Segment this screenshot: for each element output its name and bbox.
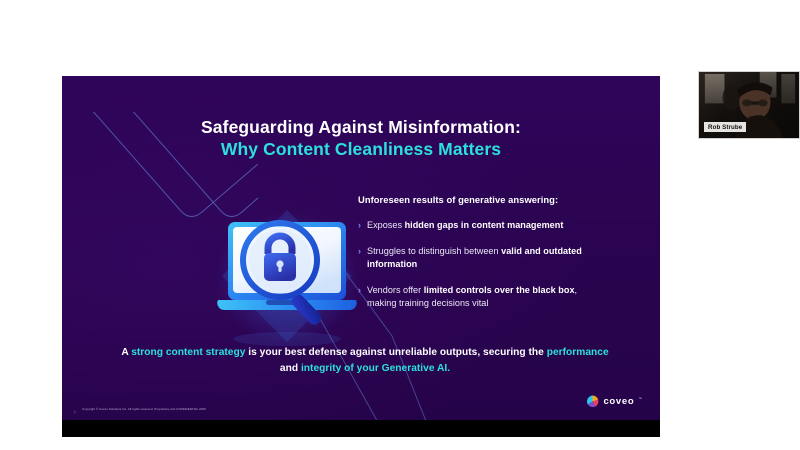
bullet-chevron-icon: › bbox=[358, 219, 367, 232]
bullet-item-text: Struggles to distinguish between valid a… bbox=[367, 245, 608, 271]
content-heading: Unforeseen results of generative answeri… bbox=[358, 194, 608, 205]
summary-highlight: strong content strategy bbox=[131, 347, 245, 358]
bullet-item: ›Struggles to distinguish between valid … bbox=[358, 245, 608, 271]
bullet-list: ›Exposes hidden gaps in content manageme… bbox=[358, 219, 608, 310]
webcam-participant-name: Rob Strube bbox=[704, 122, 746, 132]
summary-text: A bbox=[121, 347, 131, 358]
slide-canvas: Safeguarding Against Misinformation: Why… bbox=[62, 76, 660, 420]
bullet-item-text: Vendors offer limited controls over the … bbox=[367, 284, 608, 310]
bullet-item-text: Exposes hidden gaps in content managemen… bbox=[367, 219, 563, 232]
summary-highlight: integrity of your Generative AI. bbox=[301, 363, 450, 374]
slide-title-line-2: Why Content Cleanliness Matters bbox=[62, 138, 660, 160]
coveo-pinwheel-icon bbox=[586, 395, 599, 408]
slide-title-line-1: Safeguarding Against Misinformation: bbox=[62, 116, 660, 138]
illustration-reflection bbox=[233, 332, 341, 346]
bullet-chevron-icon: › bbox=[358, 284, 367, 297]
coveo-logo: coveo ™ bbox=[586, 395, 642, 408]
presentation-slide-stage[interactable]: Safeguarding Against Misinformation: Why… bbox=[62, 76, 660, 437]
bullet-chevron-icon: › bbox=[358, 245, 367, 258]
slide-title: Safeguarding Against Misinformation: Why… bbox=[62, 116, 660, 161]
coveo-wordmark: coveo bbox=[603, 396, 634, 407]
bullet-item: ›Vendors offer limited controls over the… bbox=[358, 284, 608, 310]
content-column: Unforeseen results of generative answeri… bbox=[358, 194, 608, 323]
laptop-magnifier-lock-illustration bbox=[202, 196, 372, 361]
slide-page-number: 1 bbox=[74, 410, 76, 414]
webcam-video-tile[interactable]: Rob Strube bbox=[698, 71, 800, 139]
summary-highlight: performance bbox=[547, 347, 609, 358]
summary-text: and bbox=[280, 363, 301, 374]
copyright-notice: Copyright © Coveo Solutions Inc. All rig… bbox=[82, 407, 206, 411]
summary-text: is your best defense against unreliable … bbox=[245, 347, 546, 358]
coveo-trademark-symbol: ™ bbox=[638, 397, 642, 401]
bullet-item: ›Exposes hidden gaps in content manageme… bbox=[358, 219, 608, 232]
summary-statement: A strong content strategy is your best d… bbox=[116, 345, 614, 377]
